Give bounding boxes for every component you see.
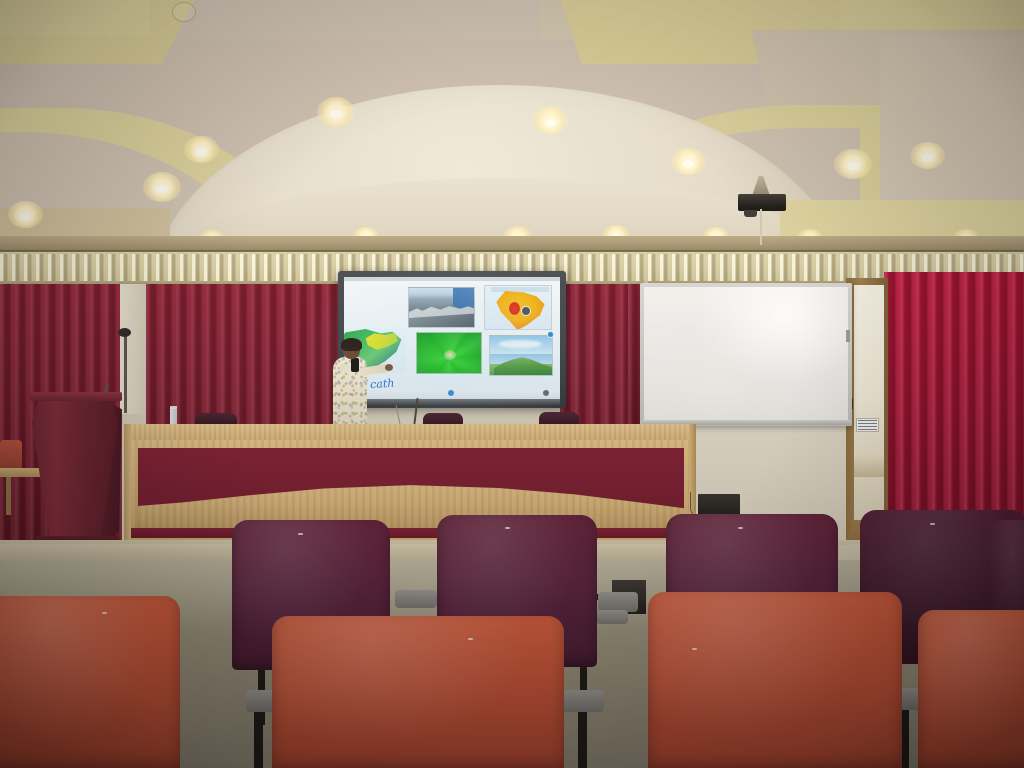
seat-tag <box>692 648 697 650</box>
seat-tag <box>102 612 107 614</box>
slide-image-2-toolbar <box>491 287 549 292</box>
slide-image-2-hotspot <box>509 302 520 315</box>
side-table-leg <box>6 477 11 515</box>
whiteboard-surface[interactable] <box>644 287 848 420</box>
slide-image-2-marker-badge <box>521 306 531 316</box>
seat-front-3[interactable] <box>648 592 902 768</box>
downlight-8-core <box>922 154 933 162</box>
screen-top-chrome <box>344 277 560 281</box>
seat-tag <box>930 523 935 525</box>
lectern-top <box>30 392 122 401</box>
table-left-edge <box>124 424 131 544</box>
slide-image-green-thermal <box>416 332 482 374</box>
side-table-far-left <box>0 468 40 477</box>
water-bottle <box>170 408 177 425</box>
screen-dot-center[interactable] <box>447 389 455 397</box>
slide-image-weather-heatmap <box>484 285 552 330</box>
seat-tag <box>505 527 510 529</box>
downlight-5-core <box>545 119 556 127</box>
screen-dot-side[interactable] <box>547 331 554 338</box>
slide-image-4-core <box>444 350 456 360</box>
projector-lens <box>744 210 757 217</box>
slide-image-snowy-mountain <box>408 287 475 328</box>
seat-front-1[interactable] <box>0 596 180 768</box>
seat-tag <box>468 638 473 640</box>
slide-image-coastal-hill <box>489 335 553 376</box>
screen-dot-right[interactable] <box>542 389 550 397</box>
seat-front-4[interactable] <box>918 610 1024 768</box>
armrest-front-2[interactable] <box>560 690 604 712</box>
ceiling-downlight-group <box>0 0 1024 260</box>
auditorium-photo: of cath <box>0 0 1024 768</box>
ceiling-projector <box>738 194 786 211</box>
table-top-surface <box>124 424 696 440</box>
seat-tag <box>298 533 303 535</box>
microphone-icon <box>118 328 131 337</box>
corridor-counter <box>854 455 884 477</box>
ceiling-vent-ring <box>172 2 196 22</box>
presenter-right-hand <box>385 364 393 371</box>
downlight-1-core <box>20 213 31 221</box>
seat-tag <box>738 527 743 529</box>
downlight-6-core <box>683 160 694 168</box>
seat-front-2[interactable] <box>272 616 564 768</box>
presenter-speaker <box>323 340 385 432</box>
floor-mic-stand <box>124 333 127 413</box>
armrest-back-2[interactable] <box>598 592 638 612</box>
whiteboard-clip <box>846 330 850 342</box>
downlight-3-core <box>196 148 207 156</box>
projector-cable <box>760 209 762 245</box>
armrest-back-4[interactable] <box>596 610 628 624</box>
slide-image-5-cloud <box>498 340 542 348</box>
presenter-glasses <box>343 347 359 350</box>
corridor-notice-sign-text <box>858 420 877 430</box>
armrest-back-1[interactable] <box>395 590 437 608</box>
presenter-handheld-device <box>351 358 359 372</box>
